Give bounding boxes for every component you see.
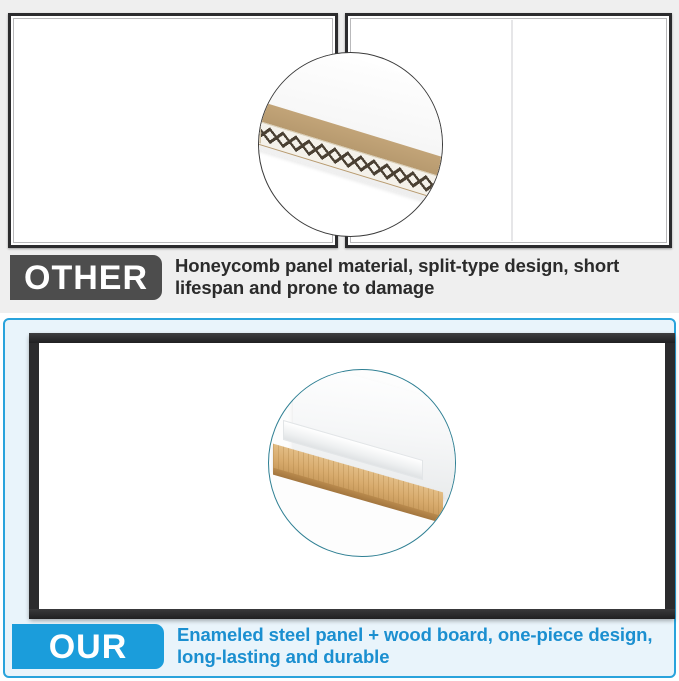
our-badge: OUR bbox=[12, 624, 164, 669]
panel-seam-line bbox=[511, 20, 513, 241]
our-caption-row: OUR Enameled steel panel + wood board, o… bbox=[2, 624, 679, 669]
honeycomb-slab-side-edge bbox=[258, 99, 261, 143]
product-comparison-image: OTHER Honeycomb panel material, split-ty… bbox=[0, 0, 679, 681]
other-badge: OTHER bbox=[10, 255, 162, 300]
steel-wood-layer-magnifier bbox=[268, 369, 456, 557]
our-product-section: OUR Enameled steel panel + wood board, o… bbox=[3, 318, 676, 678]
other-description-text: Honeycomb panel material, split-type des… bbox=[175, 255, 675, 299]
our-description-text: Enameled steel panel + wood board, one-p… bbox=[177, 624, 677, 668]
other-caption-row: OTHER Honeycomb panel material, split-ty… bbox=[0, 255, 679, 300]
other-product-section: OTHER Honeycomb panel material, split-ty… bbox=[0, 0, 679, 313]
honeycomb-cross-section-magnifier bbox=[258, 52, 443, 237]
